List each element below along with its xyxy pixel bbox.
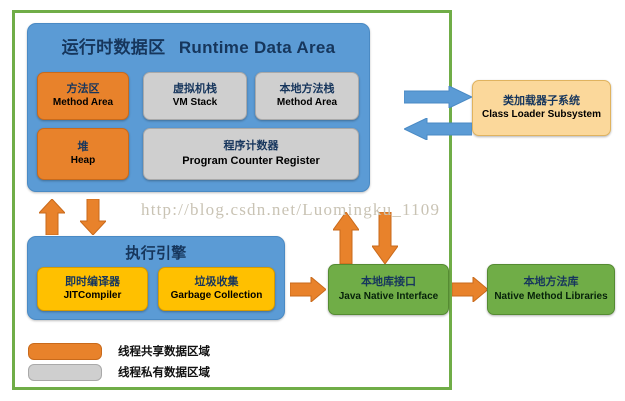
native-method-libraries-cn: 本地方法库 [524, 275, 579, 290]
engine-jit-compiler: 即时编译器 JITCompiler [37, 267, 148, 311]
class-loader-subsystem-box: 类加载器子系统 Class Loader Subsystem [472, 80, 611, 136]
region-method-area-en: Method Area [53, 96, 113, 110]
region-program-counter-register: 程序计数器 Program Counter Register [143, 128, 359, 180]
java-native-interface-box: 本地库接口 Java Native Interface [328, 264, 449, 315]
execution-engine-title: 执行引擎 [27, 242, 285, 263]
region-native-method-stack-en: Method Area [277, 96, 337, 110]
region-vm-stack-en: VM Stack [173, 96, 217, 110]
class-loader-subsystem-cn: 类加载器子系统 [503, 94, 580, 109]
region-heap-en: Heap [71, 154, 95, 168]
arrow-jni-to-native-libraries-icon [452, 277, 488, 302]
engine-garbage-collection: 垃圾收集 Garbage Collection [158, 267, 275, 311]
arrow-jni-up-icon [333, 212, 359, 264]
region-program-counter-register-en: Program Counter Register [182, 154, 320, 169]
legend: 线程共享数据区域 线程私有数据区域 [28, 341, 210, 383]
region-method-area-cn: 方法区 [67, 82, 100, 97]
legend-swatch-shared-icon [28, 343, 102, 360]
region-heap-cn: 堆 [78, 140, 89, 155]
legend-swatch-private-icon [28, 364, 102, 381]
engine-jit-compiler-en: JITCompiler [64, 289, 122, 303]
engine-jit-compiler-cn: 即时编译器 [65, 275, 120, 290]
region-native-method-stack-cn: 本地方法栈 [280, 82, 335, 97]
native-method-libraries-en: Native Method Libraries [494, 290, 607, 304]
arrow-class-loader-to-runtime-icon [404, 86, 472, 108]
legend-item-private: 线程私有数据区域 [28, 362, 210, 382]
arrow-runtime-up-icon [39, 199, 65, 235]
runtime-data-area-title-en: Runtime Data Area [179, 38, 336, 57]
legend-label-private: 线程私有数据区域 [118, 364, 210, 380]
execution-engine-title-cn: 执行引擎 [125, 245, 186, 262]
native-method-libraries-box: 本地方法库 Native Method Libraries [487, 264, 615, 315]
legend-item-shared: 线程共享数据区域 [28, 341, 210, 361]
region-vm-stack: 虚拟机栈 VM Stack [143, 72, 247, 120]
region-vm-stack-cn: 虚拟机栈 [173, 82, 217, 97]
arrow-runtime-to-class-loader-icon [404, 118, 472, 140]
engine-garbage-collection-cn: 垃圾收集 [195, 275, 239, 290]
arrow-engine-down-icon [80, 199, 106, 235]
region-method-area: 方法区 Method Area [37, 72, 129, 120]
region-program-counter-register-cn: 程序计数器 [224, 139, 279, 154]
region-heap: 堆 Heap [37, 128, 129, 180]
java-native-interface-en: Java Native Interface [339, 290, 439, 304]
region-native-method-stack: 本地方法栈 Method Area [255, 72, 359, 120]
arrow-runtime-to-jni-down-icon [372, 212, 398, 264]
legend-label-shared: 线程共享数据区域 [118, 343, 210, 359]
runtime-data-area-title-cn: 运行时数据区 [62, 38, 166, 57]
engine-garbage-collection-en: Garbage Collection [171, 289, 263, 303]
arrow-engine-to-jni-icon [290, 277, 326, 302]
java-native-interface-cn: 本地库接口 [361, 275, 416, 290]
runtime-data-area-title: 运行时数据区 Runtime Data Area [27, 33, 370, 58]
jvm-architecture-diagram: 运行时数据区 Runtime Data Area 方法区 Method Area… [0, 0, 625, 401]
class-loader-subsystem-en: Class Loader Subsystem [482, 108, 601, 122]
